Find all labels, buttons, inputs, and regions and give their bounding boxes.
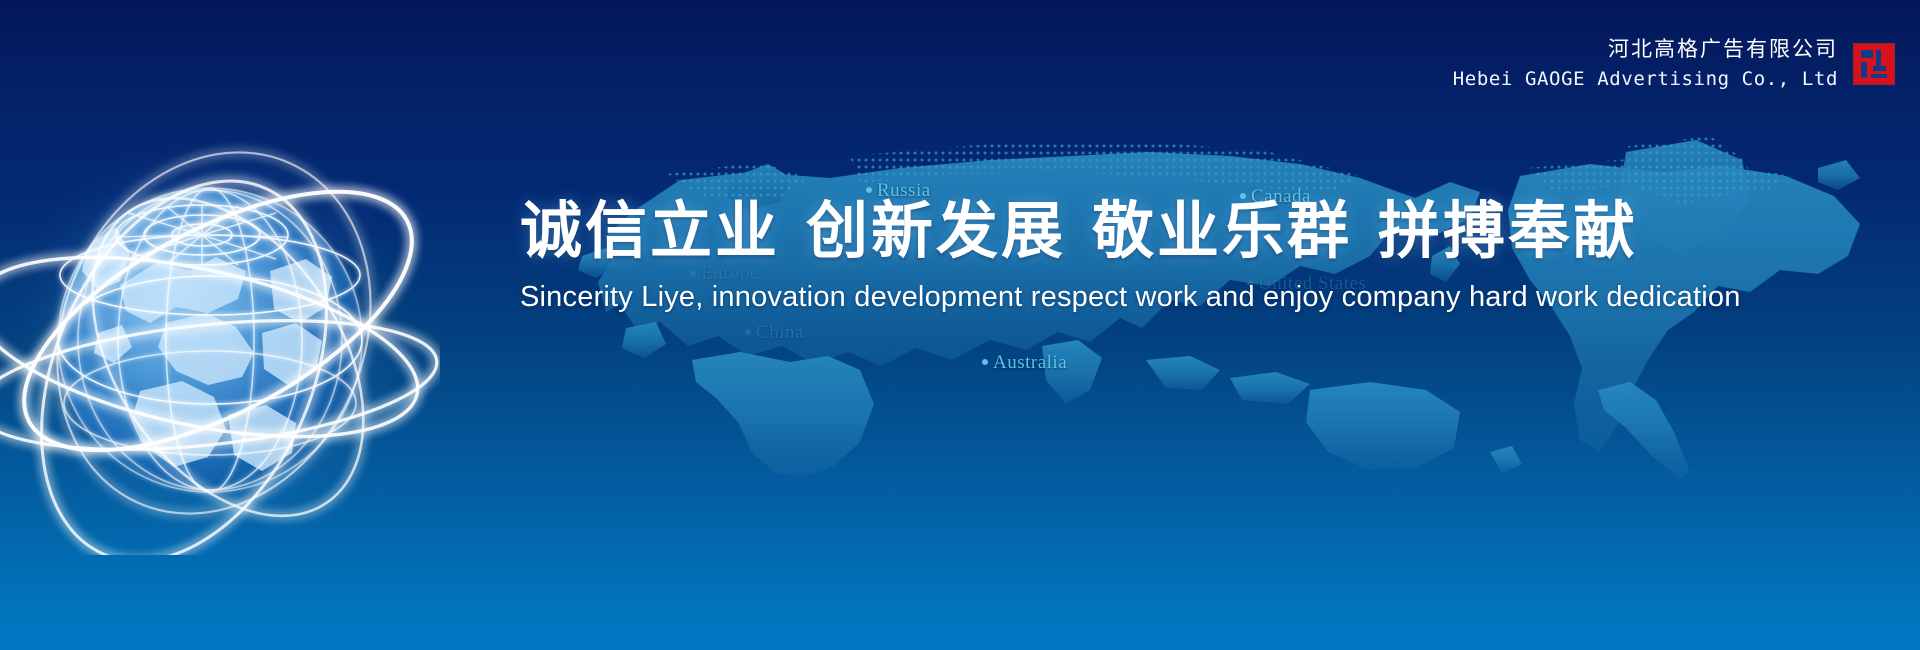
globe-orbit-icon [0,85,440,555]
slogan-block: 诚信立业创新发展敬业乐群拼搏奉献 Sincerity Liye, innovat… [520,196,1910,314]
company-name-cn: 河北高格广告有限公司 [1453,36,1838,64]
map-label-australia: Australia [982,352,1067,374]
gaoge-logo-icon [1852,42,1896,86]
slogan-segment-4: 拼搏奉献 [1378,196,1638,265]
promo-banner: Russia Canada Australia Europe China Uni… [0,0,1920,650]
company-identity-block: 河北高格广告有限公司 Hebei GAOGE Advertising Co., … [1453,36,1896,92]
slogan-segment-1: 诚信立业 [520,196,780,265]
map-marker-dot [866,187,872,193]
company-name-en: Hebei GAOGE Advertising Co., Ltd [1453,67,1838,92]
map-marker-dot [982,359,988,365]
map-marker-dot [745,329,751,335]
slogan-chinese: 诚信立业创新发展敬业乐群拼搏奉献 [520,196,1910,265]
slogan-english: Sincerity Liye, innovation development r… [520,281,1910,314]
slogan-segment-2: 创新发展 [806,196,1066,265]
slogan-segment-3: 敬业乐群 [1092,196,1352,265]
company-names: 河北高格广告有限公司 Hebei GAOGE Advertising Co., … [1453,36,1838,92]
map-label-china: China [745,322,804,344]
